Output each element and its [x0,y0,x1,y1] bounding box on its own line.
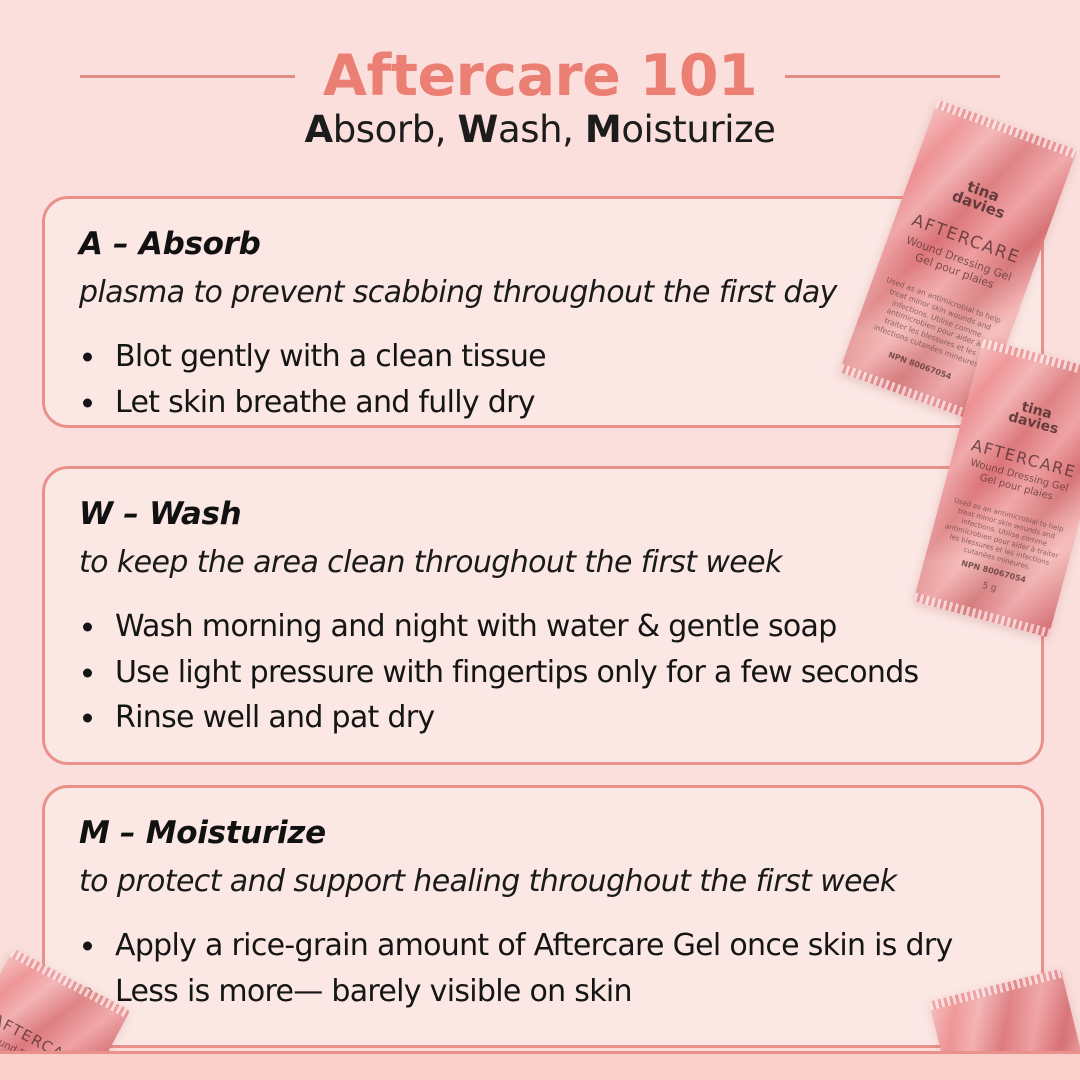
subtitle-rest-absorb: bsorb, [333,108,458,151]
list-item-text: Rinse well and pat dry [115,700,434,735]
page-title: Aftercare 101 [323,48,757,105]
card-moisturize-bullet-list: Apply a rice-grain amount of Aftercare G… [79,923,1041,1014]
card-wash-subheading: to keep the area clean throughout the fi… [79,546,1041,581]
bullet-dot-icon [83,668,92,677]
list-item-text: Blot gently with a clean tissue [115,339,546,374]
subtitle-initial-a: A [304,108,332,151]
list-item: Rinse well and pat dry [79,695,1041,741]
card-wash-heading: W – Wash [79,497,1041,533]
title-rule-right [785,75,1000,78]
list-item: Less is more— barely visible on skin [79,969,1041,1015]
page-subtitle: Absorb, Wash, Moisturize [0,108,1080,151]
card-wash: W – Wash to keep the area clean througho… [42,466,1044,765]
list-item: Apply a rice-grain amount of Aftercare G… [79,923,1041,969]
list-item: Wash morning and night with water & gent… [79,604,1041,650]
list-item: Use light pressure with fingertips only … [79,650,1041,696]
bottom-band [0,1051,1080,1080]
title-rule-left [80,75,295,78]
infographic-page: Aftercare 101 Absorb, Wash, Moisturize A… [0,0,1080,1080]
bullet-dot-icon [83,398,92,407]
list-item-text: Less is more— barely visible on skin [115,974,632,1009]
list-item-text: Use light pressure with fingertips only … [115,655,918,690]
card-moisturize-subheading: to protect and support healing throughou… [79,865,1041,900]
list-item-text: Apply a rice-grain amount of Aftercare G… [115,928,953,963]
bullet-dot-icon [83,352,92,361]
subtitle-initial-w: W [458,108,498,151]
subtitle-rest-moisturize: oisturize [621,108,775,151]
list-item-text: Wash morning and night with water & gent… [115,609,837,644]
bullet-dot-icon [83,714,92,723]
subtitle-initial-m: M [585,108,621,151]
card-moisturize: M – Moisturize to protect and support he… [42,785,1044,1048]
list-item-text: Let skin breathe and fully dry [115,385,535,420]
subtitle-rest-wash: ash, [498,108,585,151]
bullet-dot-icon [83,941,92,950]
card-wash-bullet-list: Wash morning and night with water & gent… [79,604,1041,741]
title-row: Aftercare 101 [0,38,1080,114]
bullet-dot-icon [83,622,92,631]
card-moisturize-heading: M – Moisturize [79,816,1041,852]
